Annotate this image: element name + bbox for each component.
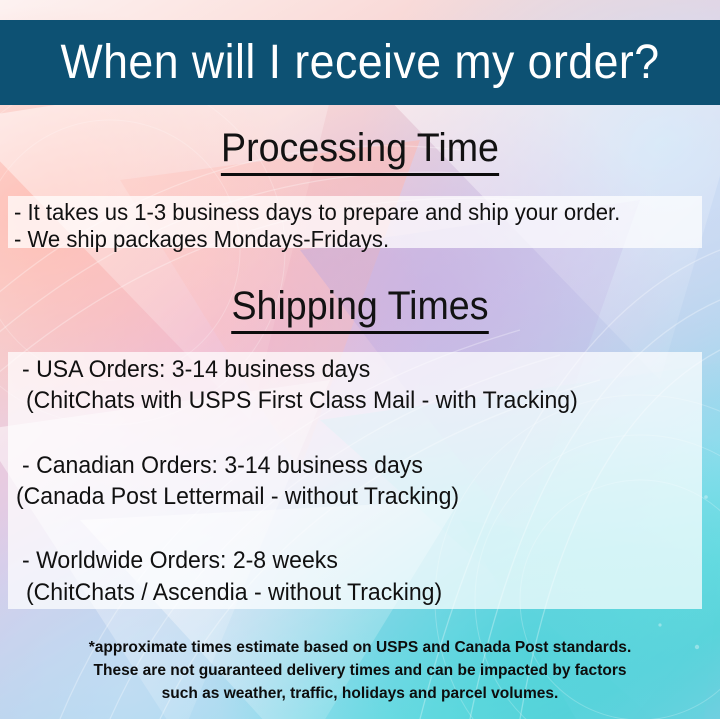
shipping-entry-usa-title: - USA Orders: 3-14 business days [22,355,370,385]
footnote: *approximate times estimate based on USP… [11,636,709,705]
processing-time-line-1: - It takes us 1-3 business days to prepa… [14,198,620,226]
footnote-line-1: *approximate times estimate based on USP… [11,636,709,659]
shipping-entry-canada-title: - Canadian Orders: 3-14 business days [22,451,423,481]
shipping-entry-worldwide-detail: (ChitChats / Ascendia - without Tracking… [26,578,442,608]
processing-time-line-2: - We ship packages Mondays-Fridays. [14,225,389,253]
section-heading-processing-time-label: Processing Time [221,126,499,176]
shipping-entry-usa-detail: (ChitChats with USPS First Class Mail - … [26,386,578,416]
shipping-entry-worldwide-title: - Worldwide Orders: 2-8 weeks [22,546,338,576]
infographic-canvas: When will I receive my order? Processing… [0,0,720,719]
section-heading-shipping-times: Shipping Times [22,286,699,326]
section-heading-shipping-times-label: Shipping Times [231,284,488,334]
shipping-entry-canada-detail: (Canada Post Lettermail - without Tracki… [16,482,459,512]
footnote-line-2: These are not guaranteed delivery times … [11,659,709,682]
page-title: When will I receive my order? [61,39,660,87]
footnote-line-3: such as weather, traffic, holidays and p… [11,682,709,705]
header-banner: When will I receive my order? [0,20,720,105]
section-heading-processing-time: Processing Time [22,128,699,168]
